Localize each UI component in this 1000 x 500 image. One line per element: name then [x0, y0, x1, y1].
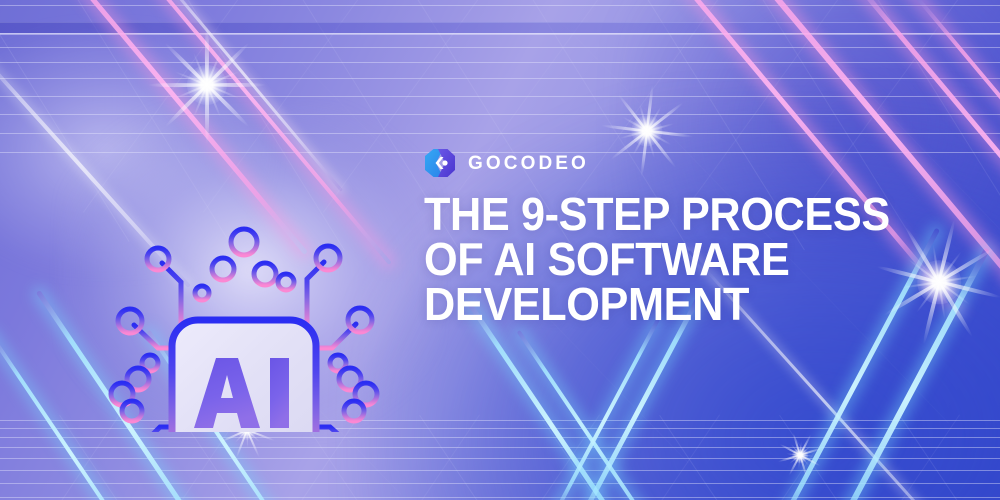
headline-line-3: DEVELOPMENT [424, 282, 913, 327]
headline-line-2: OF AI SOFTWARE [424, 237, 913, 282]
background-top-band-edge [0, 33, 1000, 35]
background-top-band [0, 22, 1000, 33]
ai-hero-banner: GOCODEO THE 9-STEP PROCESS OF AI SOFTWAR… [0, 0, 1000, 500]
gocodeo-hexagon-logo-icon [424, 148, 456, 178]
brand-name: GOCODEO [468, 154, 589, 173]
brand-lockup: GOCODEO [424, 148, 944, 178]
ai-processor-chip-icon [98, 132, 386, 432]
banner-content: GOCODEO THE 9-STEP PROCESS OF AI SOFTWAR… [424, 148, 944, 327]
page-title: THE 9-STEP PROCESS OF AI SOFTWARE DEVELO… [424, 192, 913, 327]
headline-line-1: THE 9-STEP PROCESS [424, 192, 913, 237]
